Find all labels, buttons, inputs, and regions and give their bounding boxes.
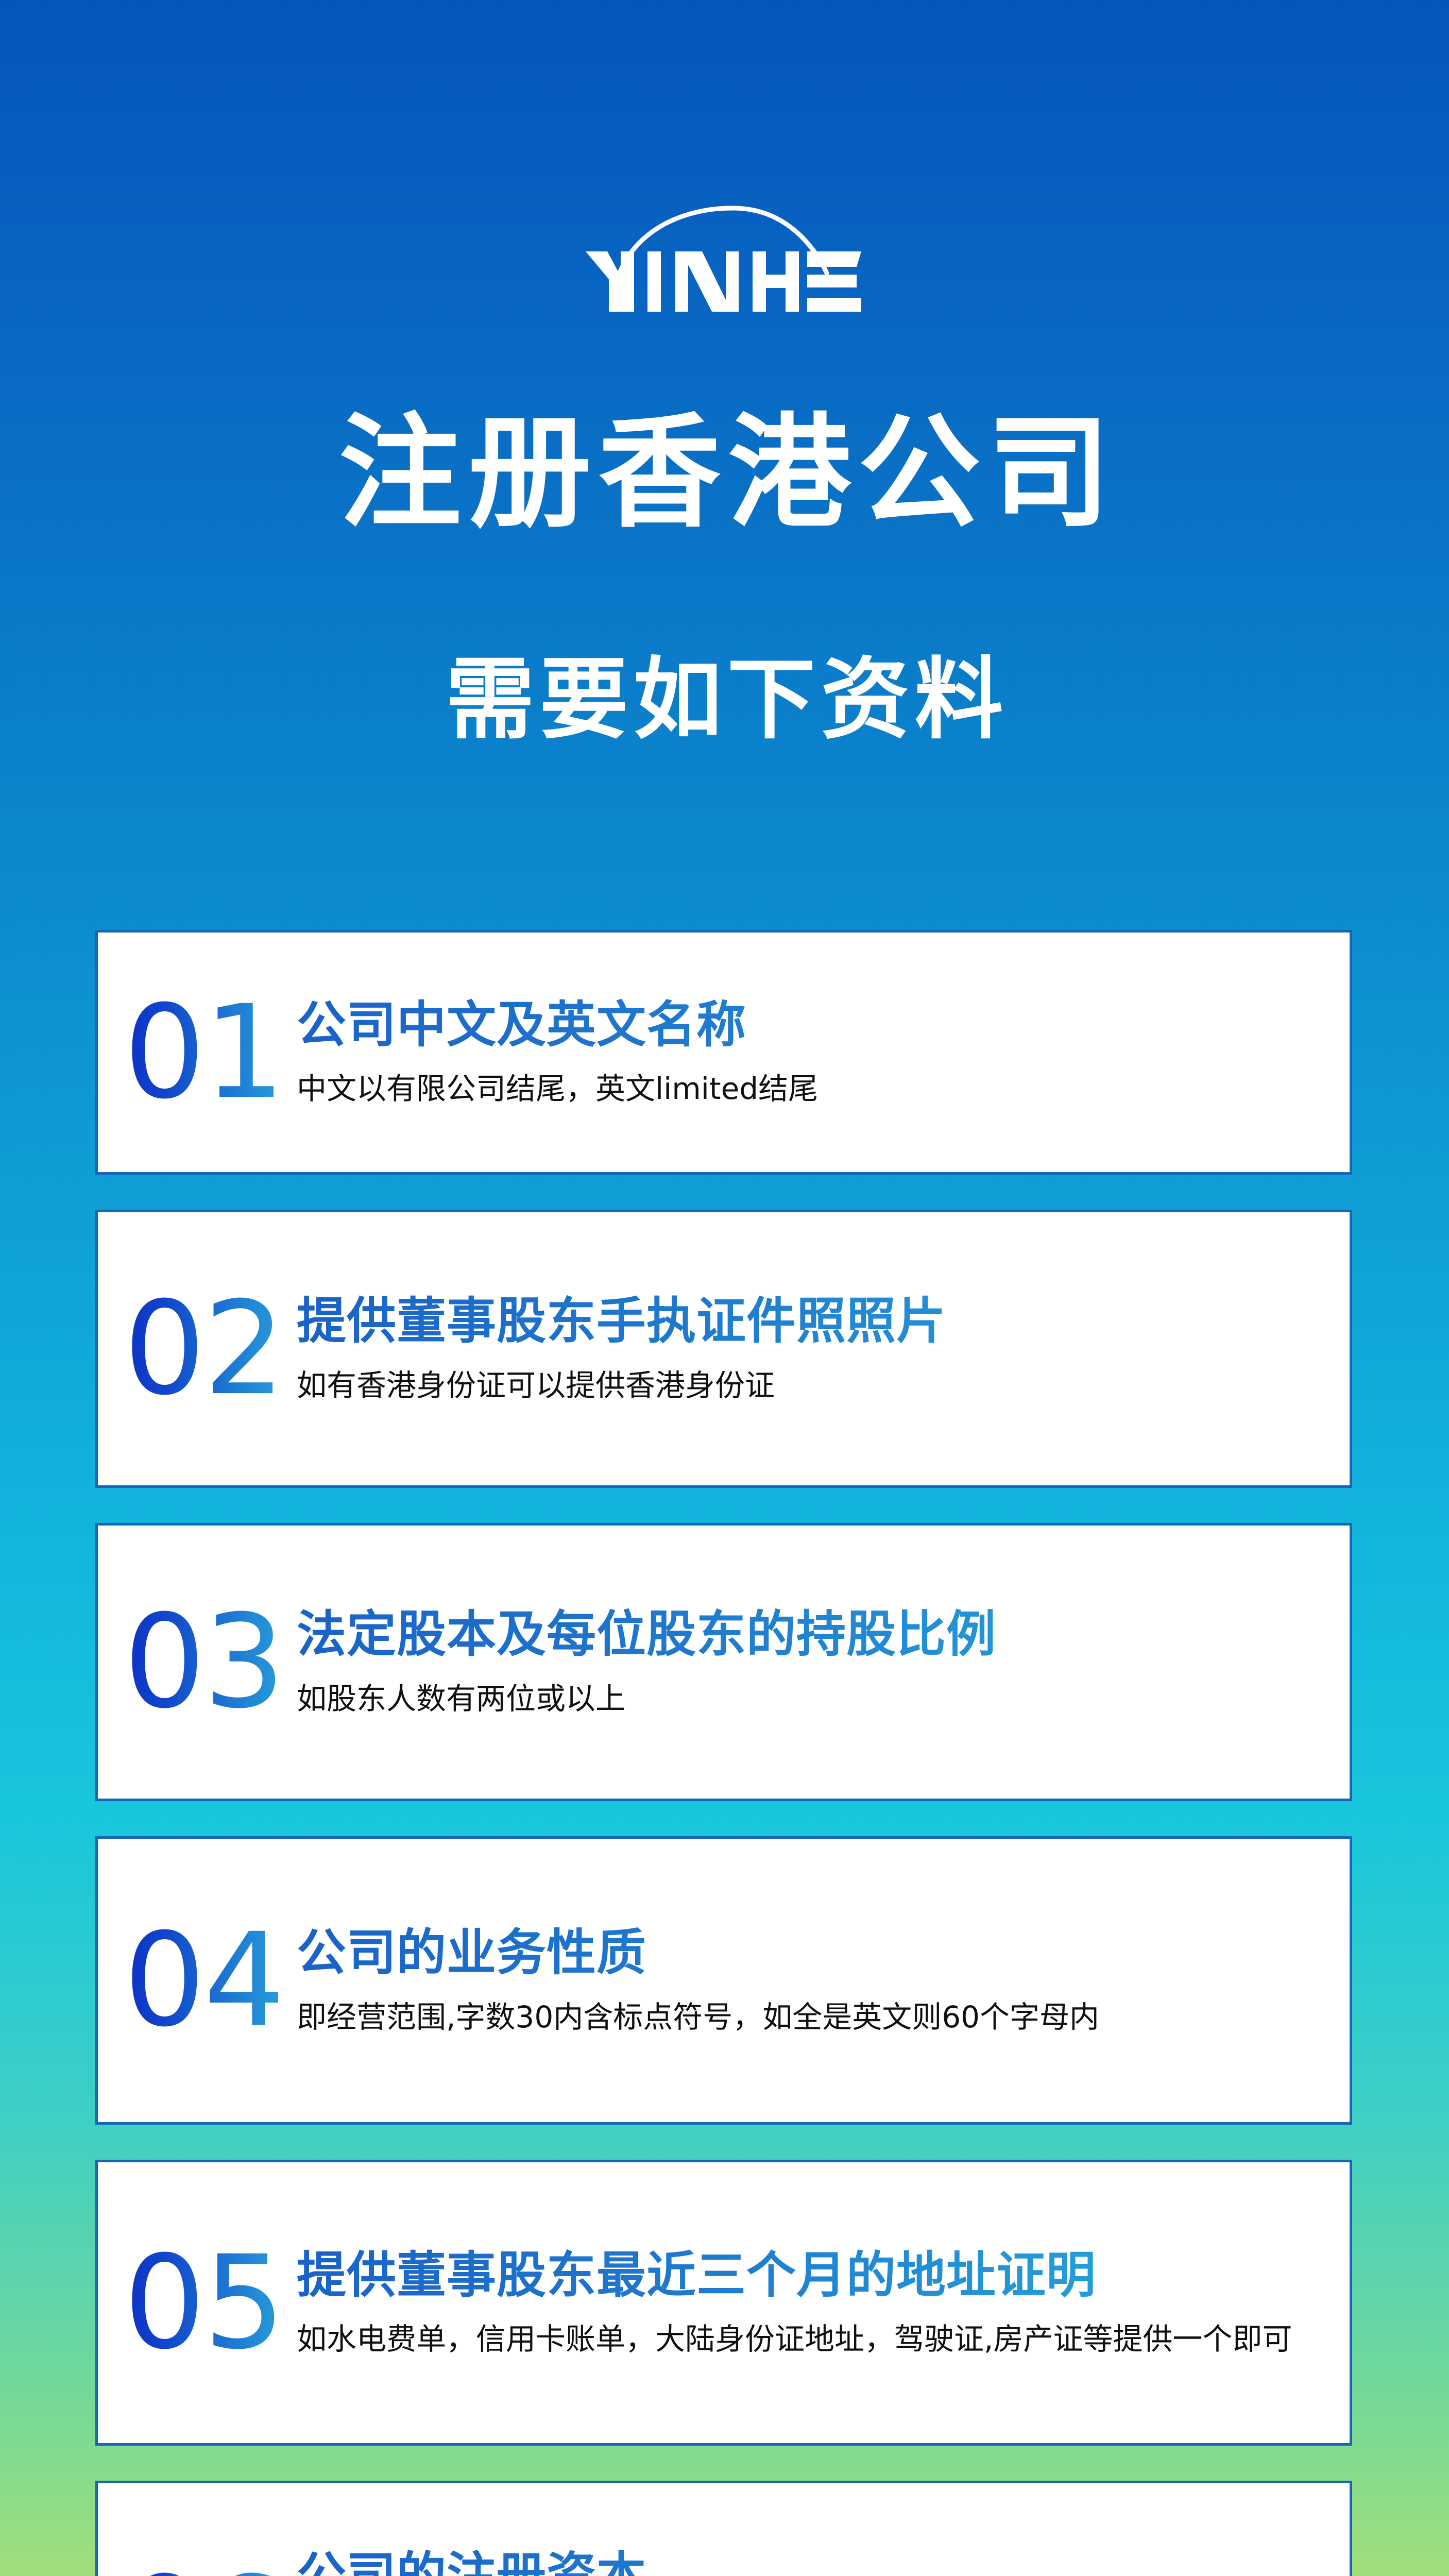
card-title: 法定股本及每位股东的持股比例 (297, 1605, 1329, 1664)
yinhe-logo-icon (581, 201, 869, 319)
requirement-card-05[interactable]: 05 提供董事股东最近三个月的地址证明 如水电费单，信用卡账单，大陆身份证地址，… (95, 2160, 1352, 2446)
page-title: 注册香港公司 (0, 412, 1449, 535)
brand-logo (0, 201, 1449, 319)
card-title: 公司的业务性质 (297, 1923, 1329, 1982)
requirement-card-06[interactable]: 06 公司的注册资本 无需实缴，认缴制，一般默认一万港币，超出后期如需改股改董政… (95, 2481, 1352, 2576)
card-title: 提供董事股东手执证件照照片 (297, 1292, 1329, 1351)
card-description: 如有香港身份证可以提供香港身份证 (297, 1365, 1329, 1406)
card-number: 03 (118, 1598, 288, 1726)
page-subtitle: 需要如下资料 (0, 655, 1449, 744)
card-number: 02 (118, 1284, 288, 1413)
card-title: 提供董事股东最近三个月的地址证明 (297, 2246, 1329, 2305)
card-description: 如水电费单，信用卡账单，大陆身份证地址，驾驶证,房产证等提供一个即可 (297, 2318, 1329, 2360)
card-number: 05 (118, 2239, 288, 2367)
card-number: 04 (118, 1916, 288, 2045)
card-description: 如股东人数有两位或以上 (297, 1678, 1329, 1719)
requirement-card-01[interactable]: 01 公司中文及英文名称 中文以有限公司结尾，英文limited结尾 (95, 930, 1352, 1175)
card-content: 法定股本及每位股东的持股比例 如股东人数有两位或以上 (288, 1605, 1350, 1719)
card-title: 公司中文及英文名称 (297, 995, 1329, 1055)
card-description: 即经营范围,字数30内含标点符号，如全是英文则60个字母内 (297, 1996, 1329, 2038)
requirement-card-02[interactable]: 02 提供董事股东手执证件照照片 如有香港身份证可以提供香港身份证 (95, 1210, 1352, 1488)
card-content: 公司中文及英文名称 中文以有限公司结尾，英文limited结尾 (288, 995, 1350, 1109)
card-title: 公司的注册资本 (297, 2546, 1329, 2576)
card-number: 06 (118, 2560, 288, 2576)
requirements-list: 01 公司中文及英文名称 中文以有限公司结尾，英文limited结尾 02 提供… (95, 930, 1352, 2576)
card-number: 01 (118, 988, 288, 1117)
card-description: 中文以有限公司结尾，英文limited结尾 (297, 1068, 1329, 1109)
card-content: 公司的注册资本 无需实缴，认缴制，一般默认一万港币，超出后期如需改股改董政府会收… (288, 2546, 1350, 2576)
card-content: 提供董事股东手执证件照照片 如有香港身份证可以提供香港身份证 (288, 1292, 1350, 1405)
card-content: 提供董事股东最近三个月的地址证明 如水电费单，信用卡账单，大陆身份证地址，驾驶证… (288, 2246, 1350, 2360)
requirement-card-03[interactable]: 03 法定股本及每位股东的持股比例 如股东人数有两位或以上 (95, 1523, 1352, 1801)
requirement-card-04[interactable]: 04 公司的业务性质 即经营范围,字数30内含标点符号，如全是英文则60个字母内 (95, 1836, 1352, 2125)
poster-root: 注册香港公司 需要如下资料 01 公司中文及英文名称 中文以有限公司结尾，英文l… (0, 0, 1449, 2576)
card-content: 公司的业务性质 即经营范围,字数30内含标点符号，如全是英文则60个字母内 (288, 1923, 1350, 2037)
